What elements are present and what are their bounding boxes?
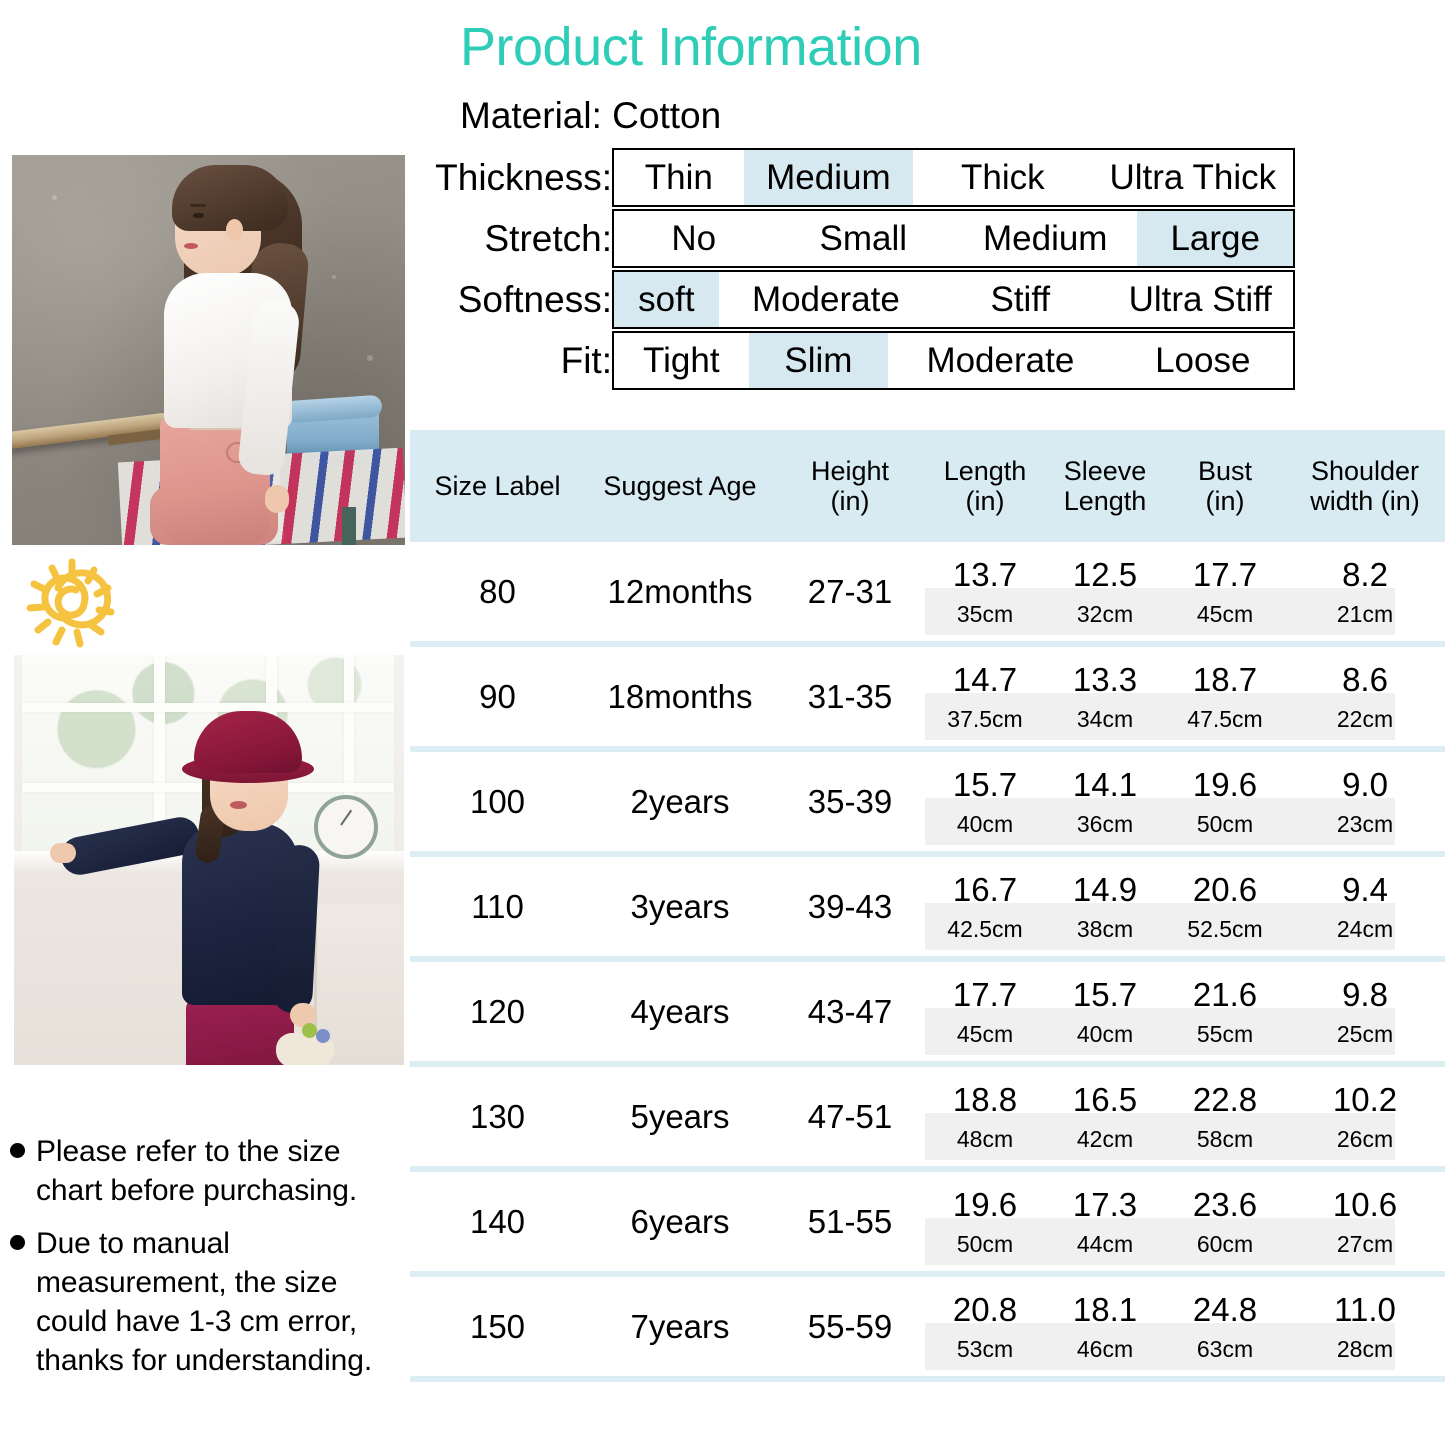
attribute-option-tight[interactable]: Tight [614,333,749,388]
note-text: Please refer to the size chart before pu… [36,1132,406,1210]
model-mouth [184,243,198,249]
cell-sleeve-length: 18.146cm [1045,1277,1165,1376]
value-cm: 21cm [1337,603,1393,626]
cell-height-in: 55-59 [775,1277,925,1376]
value-inches: 12.5 [1073,558,1137,591]
value-inches: 17.3 [1073,1188,1137,1221]
attribute-option-box: TightSlimModerateLoose [612,331,1295,390]
cell-sleeve-length: 17.344cm [1045,1172,1165,1271]
value-inches: 18.8 [953,1083,1017,1116]
attribute-option-small[interactable]: Small [774,211,953,266]
value-cm: 60cm [1197,1233,1253,1256]
value-inches: 21.6 [1193,978,1257,1011]
cell-suggest-age: 3years [585,857,775,956]
value-inches: 16.5 [1073,1083,1137,1116]
attribute-label-holder: Thickness: [405,148,612,207]
table-header-cell: Length(in) [925,456,1045,516]
attribute-label: Stretch: [405,209,612,268]
attribute-label-holder: Softness: [405,270,612,329]
value-cm: 45cm [957,1023,1013,1046]
value-inches: 17.7 [953,978,1017,1011]
value-cm: 27cm [1337,1233,1393,1256]
cell-size-label: 110 [410,857,585,956]
cell-length: 20.853cm [925,1277,1045,1376]
cell-size-label: 120 [410,962,585,1061]
value-cm: 37.5cm [947,708,1022,731]
value-cm: 42cm [1077,1128,1133,1151]
left-media-column: Please refer to the size chart before pu… [0,0,405,1445]
cell-bust: 23.660cm [1165,1172,1285,1271]
table-clock [314,795,378,859]
cell-sleeve-length: 13.334cm [1045,647,1165,746]
cell-shoulder-width: 9.424cm [1285,857,1445,956]
sun-icon [18,552,126,652]
value-cm: 46cm [1077,1338,1133,1361]
attribute-row-fit: Fit:TightSlimModerateLoose [405,331,1445,390]
value-cm: 28cm [1337,1338,1393,1361]
product-photo-white-top [12,155,405,545]
attribute-option-box: NoSmallMediumLarge [612,209,1295,268]
table-row: 9018months31-3514.737.5cm13.334cm18.747.… [410,647,1445,752]
value-inches: 9.8 [1342,978,1388,1011]
bullet-icon [10,1235,25,1250]
cell-suggest-age: 5years [585,1067,775,1166]
attribute-option-ultra-stiff[interactable]: Ultra Stiff [1108,272,1293,327]
table-row: 1002years35-3915.740cm14.136cm19.650cm9.… [410,752,1445,857]
cell-shoulder-width: 8.622cm [1285,647,1445,746]
attribute-option-thin[interactable]: Thin [614,150,744,205]
cell-height-in: 31-35 [775,647,925,746]
value-inches: 18.7 [1193,663,1257,696]
value-cm: 53cm [957,1338,1013,1361]
size-chart-table: Size LabelSuggest AgeHeight(in)Length(in… [410,430,1445,1382]
value-cm: 25cm [1337,1023,1393,1046]
cell-height-in: 47-51 [775,1067,925,1166]
cell-size-label: 130 [410,1067,585,1166]
value-inches: 10.2 [1333,1083,1397,1116]
value-cm: 63cm [1197,1338,1253,1361]
cell-bust: 18.747.5cm [1165,647,1285,746]
attribute-option-slim[interactable]: Slim [749,333,889,388]
cell-shoulder-width: 10.226cm [1285,1067,1445,1166]
attribute-option-no[interactable]: No [614,211,774,266]
value-cm: 50cm [957,1233,1013,1256]
cell-bust: 20.652.5cm [1165,857,1285,956]
value-cm: 40cm [1077,1023,1133,1046]
attribute-row-softness: Softness:softModerateStiffUltra Stiff [405,270,1445,329]
material-label: Material: Cotton [460,95,721,137]
value-inches: 8.2 [1342,558,1388,591]
attribute-option-stiff[interactable]: Stiff [933,272,1107,327]
cell-suggest-age: 18months [585,647,775,746]
cell-height-in: 27-31 [775,542,925,641]
attribute-rows: Thickness:ThinMediumThickUltra ThickStre… [405,148,1445,392]
value-inches: 14.7 [953,663,1017,696]
attribute-row-stretch: Stretch:NoSmallMediumLarge [405,209,1445,268]
model-ear [226,219,243,241]
value-cm: 34cm [1077,708,1133,731]
value-inches: 16.7 [953,873,1017,906]
cell-bust: 22.858cm [1165,1067,1285,1166]
attribute-label-holder: Fit: [405,331,612,390]
cell-sleeve-length: 14.136cm [1045,752,1165,851]
attribute-option-loose[interactable]: Loose [1113,333,1293,388]
value-inches: 14.9 [1073,873,1137,906]
right-info-column: Product Information Material: Cotton Thi… [405,0,1445,1445]
value-inches: 19.6 [1193,768,1257,801]
cell-sleeve-length: 12.532cm [1045,542,1165,641]
table-row: 1305years47-5118.848cm16.542cm22.858cm10… [410,1067,1445,1172]
value-cm: 36cm [1077,813,1133,836]
model2-left-hand [50,843,76,863]
attribute-option-medium[interactable]: Medium [953,211,1137,266]
cell-shoulder-width: 10.627cm [1285,1172,1445,1271]
cell-height-in: 35-39 [775,752,925,851]
model-eyebrow [190,204,206,207]
value-cm: 55cm [1197,1023,1253,1046]
model2-mouth [230,801,247,809]
cell-height-in: 43-47 [775,962,925,1061]
attribute-option-medium[interactable]: Medium [744,150,914,205]
cell-sleeve-length: 15.740cm [1045,962,1165,1061]
table-header-cell: Shoulderwidth (in) [1285,456,1445,516]
value-inches: 15.7 [953,768,1017,801]
table-header-cell: Suggest Age [585,471,775,501]
cell-suggest-age: 7years [585,1277,775,1376]
cell-suggest-age: 6years [585,1172,775,1271]
value-inches: 20.8 [953,1293,1017,1326]
value-inches: 13.3 [1073,663,1137,696]
attribute-label: Fit: [405,331,612,390]
cell-length: 17.745cm [925,962,1045,1061]
value-cm: 40cm [957,813,1013,836]
value-inches: 13.7 [953,558,1017,591]
value-cm: 26cm [1337,1128,1393,1151]
value-inches: 15.7 [1073,978,1137,1011]
toy-ball-blue [316,1029,330,1043]
cell-size-label: 80 [410,542,585,641]
cell-length: 18.848cm [925,1067,1045,1166]
value-cm: 42.5cm [947,918,1022,941]
attribute-row-thickness: Thickness:ThinMediumThickUltra Thick [405,148,1445,207]
table-header-cell: Bust(in) [1165,456,1285,516]
attribute-label: Softness: [405,270,612,329]
cell-shoulder-width: 9.825cm [1285,962,1445,1061]
table-header-cell: Size Label [410,471,585,501]
cell-suggest-age: 2years [585,752,775,851]
table-header-row: Size LabelSuggest AgeHeight(in)Length(in… [410,430,1445,542]
cell-length: 19.650cm [925,1172,1045,1271]
cell-length: 16.742.5cm [925,857,1045,956]
cell-bust: 24.863cm [1165,1277,1285,1376]
attribute-label: Thickness: [405,148,612,207]
cell-size-label: 100 [410,752,585,851]
cell-size-label: 90 [410,647,585,746]
attribute-option-box: ThinMediumThickUltra Thick [612,148,1295,207]
value-cm: 48cm [957,1128,1013,1151]
attribute-option-box: softModerateStiffUltra Stiff [612,270,1295,329]
value-inches: 22.8 [1193,1083,1257,1116]
value-cm: 50cm [1197,813,1253,836]
attribute-option-soft[interactable]: soft [614,272,719,327]
cell-suggest-age: 4years [585,962,775,1061]
wall-speck [52,195,57,200]
window-mullion [22,703,394,712]
value-inches: 23.6 [1193,1188,1257,1221]
note-item: Due to manual measurement, the size coul… [10,1224,406,1380]
cell-length: 14.737.5cm [925,647,1045,746]
value-inches: 11.0 [1334,1293,1396,1326]
cell-size-label: 140 [410,1172,585,1271]
note-text: Due to manual measurement, the size coul… [36,1224,406,1380]
cell-shoulder-width: 8.221cm [1285,542,1445,641]
model-eye [193,213,204,218]
cell-sleeve-length: 14.938cm [1045,857,1165,956]
value-cm: 44cm [1077,1233,1133,1256]
table-header-cell: SleeveLength [1045,456,1165,516]
table-header-cell: Height(in) [775,456,925,516]
wall-speck [332,275,336,279]
cell-shoulder-width: 9.023cm [1285,752,1445,851]
attribute-option-large[interactable]: Large [1137,211,1293,266]
value-cm: 58cm [1197,1128,1253,1151]
value-cm: 45cm [1197,603,1253,626]
value-inches: 8.6 [1342,663,1388,696]
attribute-option-moderate[interactable]: Moderate [719,272,933,327]
table-row: 8012months27-3113.735cm12.532cm17.745cm8… [410,542,1445,647]
wall-speck [367,355,373,361]
table-body: 8012months27-3113.735cm12.532cm17.745cm8… [410,542,1445,1382]
table-row: 1204years43-4717.745cm15.740cm21.655cm9.… [410,962,1445,1067]
value-inches: 20.6 [1193,873,1257,906]
value-inches: 9.4 [1342,873,1388,906]
value-cm: 38cm [1077,918,1133,941]
cell-bust: 17.745cm [1165,542,1285,641]
cell-shoulder-width: 11.028cm [1285,1277,1445,1376]
cell-bust: 21.655cm [1165,962,1285,1061]
value-cm: 47.5cm [1187,708,1262,731]
table-row: 1406years51-5519.650cm17.344cm23.660cm10… [410,1172,1445,1277]
value-inches: 19.6 [953,1188,1017,1221]
value-cm: 22cm [1337,708,1393,731]
table-row: 1507years55-5920.853cm18.146cm24.863cm11… [410,1277,1445,1382]
value-cm: 52.5cm [1187,918,1262,941]
model-hand [265,485,289,513]
value-inches: 17.7 [1193,558,1257,591]
value-inches: 10.6 [1333,1188,1397,1221]
cell-height-in: 39-43 [775,857,925,956]
attribute-option-thick[interactable]: Thick [913,150,1092,205]
toy-ball-green [302,1023,317,1038]
value-inches: 24.8 [1193,1293,1257,1326]
cell-length: 13.735cm [925,542,1045,641]
value-cm: 32cm [1077,603,1133,626]
table-row: 1103years39-4316.742.5cm14.938cm20.652.5… [410,857,1445,962]
value-inches: 14.1 [1073,768,1137,801]
value-cm: 24cm [1337,918,1393,941]
cell-sleeve-length: 16.542cm [1045,1067,1165,1166]
notes-list: Please refer to the size chart before pu… [10,1132,406,1394]
page-title: Product Information [460,16,922,78]
product-photo-navy-top [14,655,404,1065]
cell-bust: 19.650cm [1165,752,1285,851]
value-cm: 35cm [957,603,1013,626]
table-leg [342,507,356,545]
attribute-label-holder: Stretch: [405,209,612,268]
attribute-option-ultra-thick[interactable]: Ultra Thick [1093,150,1293,205]
value-inches: 18.1 [1073,1293,1137,1326]
cell-suggest-age: 12months [585,542,775,641]
cell-size-label: 150 [410,1277,585,1376]
value-cm: 23cm [1337,813,1393,836]
value-inches: 9.0 [1342,768,1388,801]
cell-length: 15.740cm [925,752,1045,851]
note-item: Please refer to the size chart before pu… [10,1132,406,1210]
bullet-icon [10,1143,25,1158]
cell-height-in: 51-55 [775,1172,925,1271]
attribute-option-moderate[interactable]: Moderate [888,333,1112,388]
